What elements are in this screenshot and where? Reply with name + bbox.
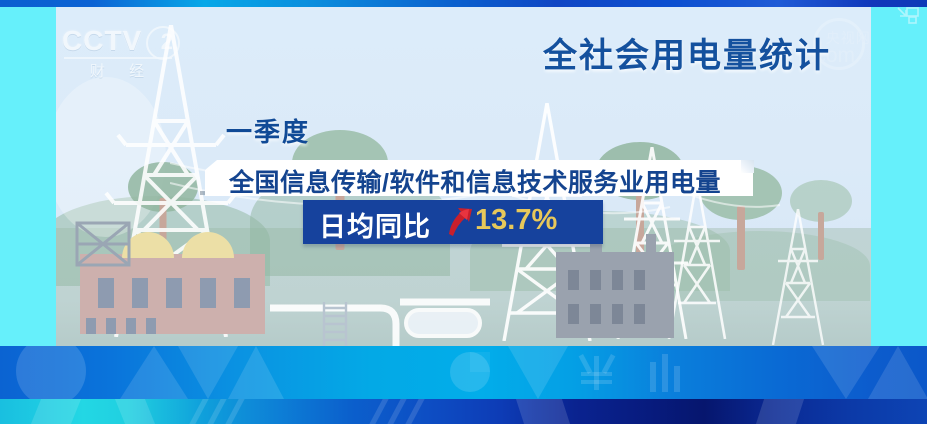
cctv-channel-logo: CCTV 2 财 经 (62, 26, 182, 84)
band-triangle (868, 346, 927, 399)
bottom-decorative-band (0, 346, 927, 399)
band-bar (650, 362, 656, 392)
band-yen-arm (579, 354, 593, 374)
change-value-text: 13.7% (475, 204, 557, 237)
strip-shape (189, 399, 208, 424)
bottom-accent-strip (0, 399, 927, 424)
broadcast-graphic: CCTV 2 财 经 央视网 .com 全社会用电量统计 一季度 全国信息传输/… (0, 0, 927, 424)
change-value-banner: 日均同比 13.7% (303, 200, 603, 244)
exit-fullscreen-icon[interactable] (895, 5, 921, 27)
band-yen-bar (581, 372, 612, 376)
band-circle (16, 346, 86, 399)
band-bar (674, 366, 680, 392)
strip-shape (369, 399, 388, 424)
channel-subtitle: 财 经 (62, 60, 182, 81)
page-title: 全社会用电量统计 (543, 28, 831, 77)
band-triangle (508, 346, 568, 399)
power-plant-building (556, 252, 674, 338)
strip-shape (516, 399, 570, 424)
metric-name-banner: 全国信息传输/软件和信息技术服务业用电量 (205, 160, 753, 196)
band-triangle (228, 346, 284, 399)
metric-name-text: 全国信息传输/软件和信息技术服务业用电量 (229, 163, 721, 199)
strip-shape (207, 399, 226, 424)
red-up-arrow-icon (445, 205, 475, 237)
band-yen-bar (581, 380, 612, 384)
band-yen-arm (602, 354, 616, 374)
strip-shape (115, 399, 155, 424)
top-accent-bar (0, 0, 927, 7)
band-bar (662, 354, 668, 392)
strip-shape (225, 399, 244, 424)
strip-shape (387, 399, 406, 424)
strip-shape (756, 399, 804, 424)
channel-logo-text: CCTV (62, 25, 142, 56)
left-cyan-rail (0, 7, 56, 346)
gantry-crane (74, 220, 134, 268)
channel-number: 2 (161, 29, 173, 55)
smokestack (646, 234, 656, 258)
band-pie-notch (470, 352, 490, 372)
comparison-label: 日均同比 (319, 205, 431, 244)
strip-shape (405, 399, 424, 424)
strip-shape (31, 399, 81, 424)
banner-fold-corner (741, 160, 754, 173)
right-cyan-rail (871, 7, 927, 346)
period-label: 一季度 (226, 112, 310, 149)
pipeline (260, 246, 540, 346)
